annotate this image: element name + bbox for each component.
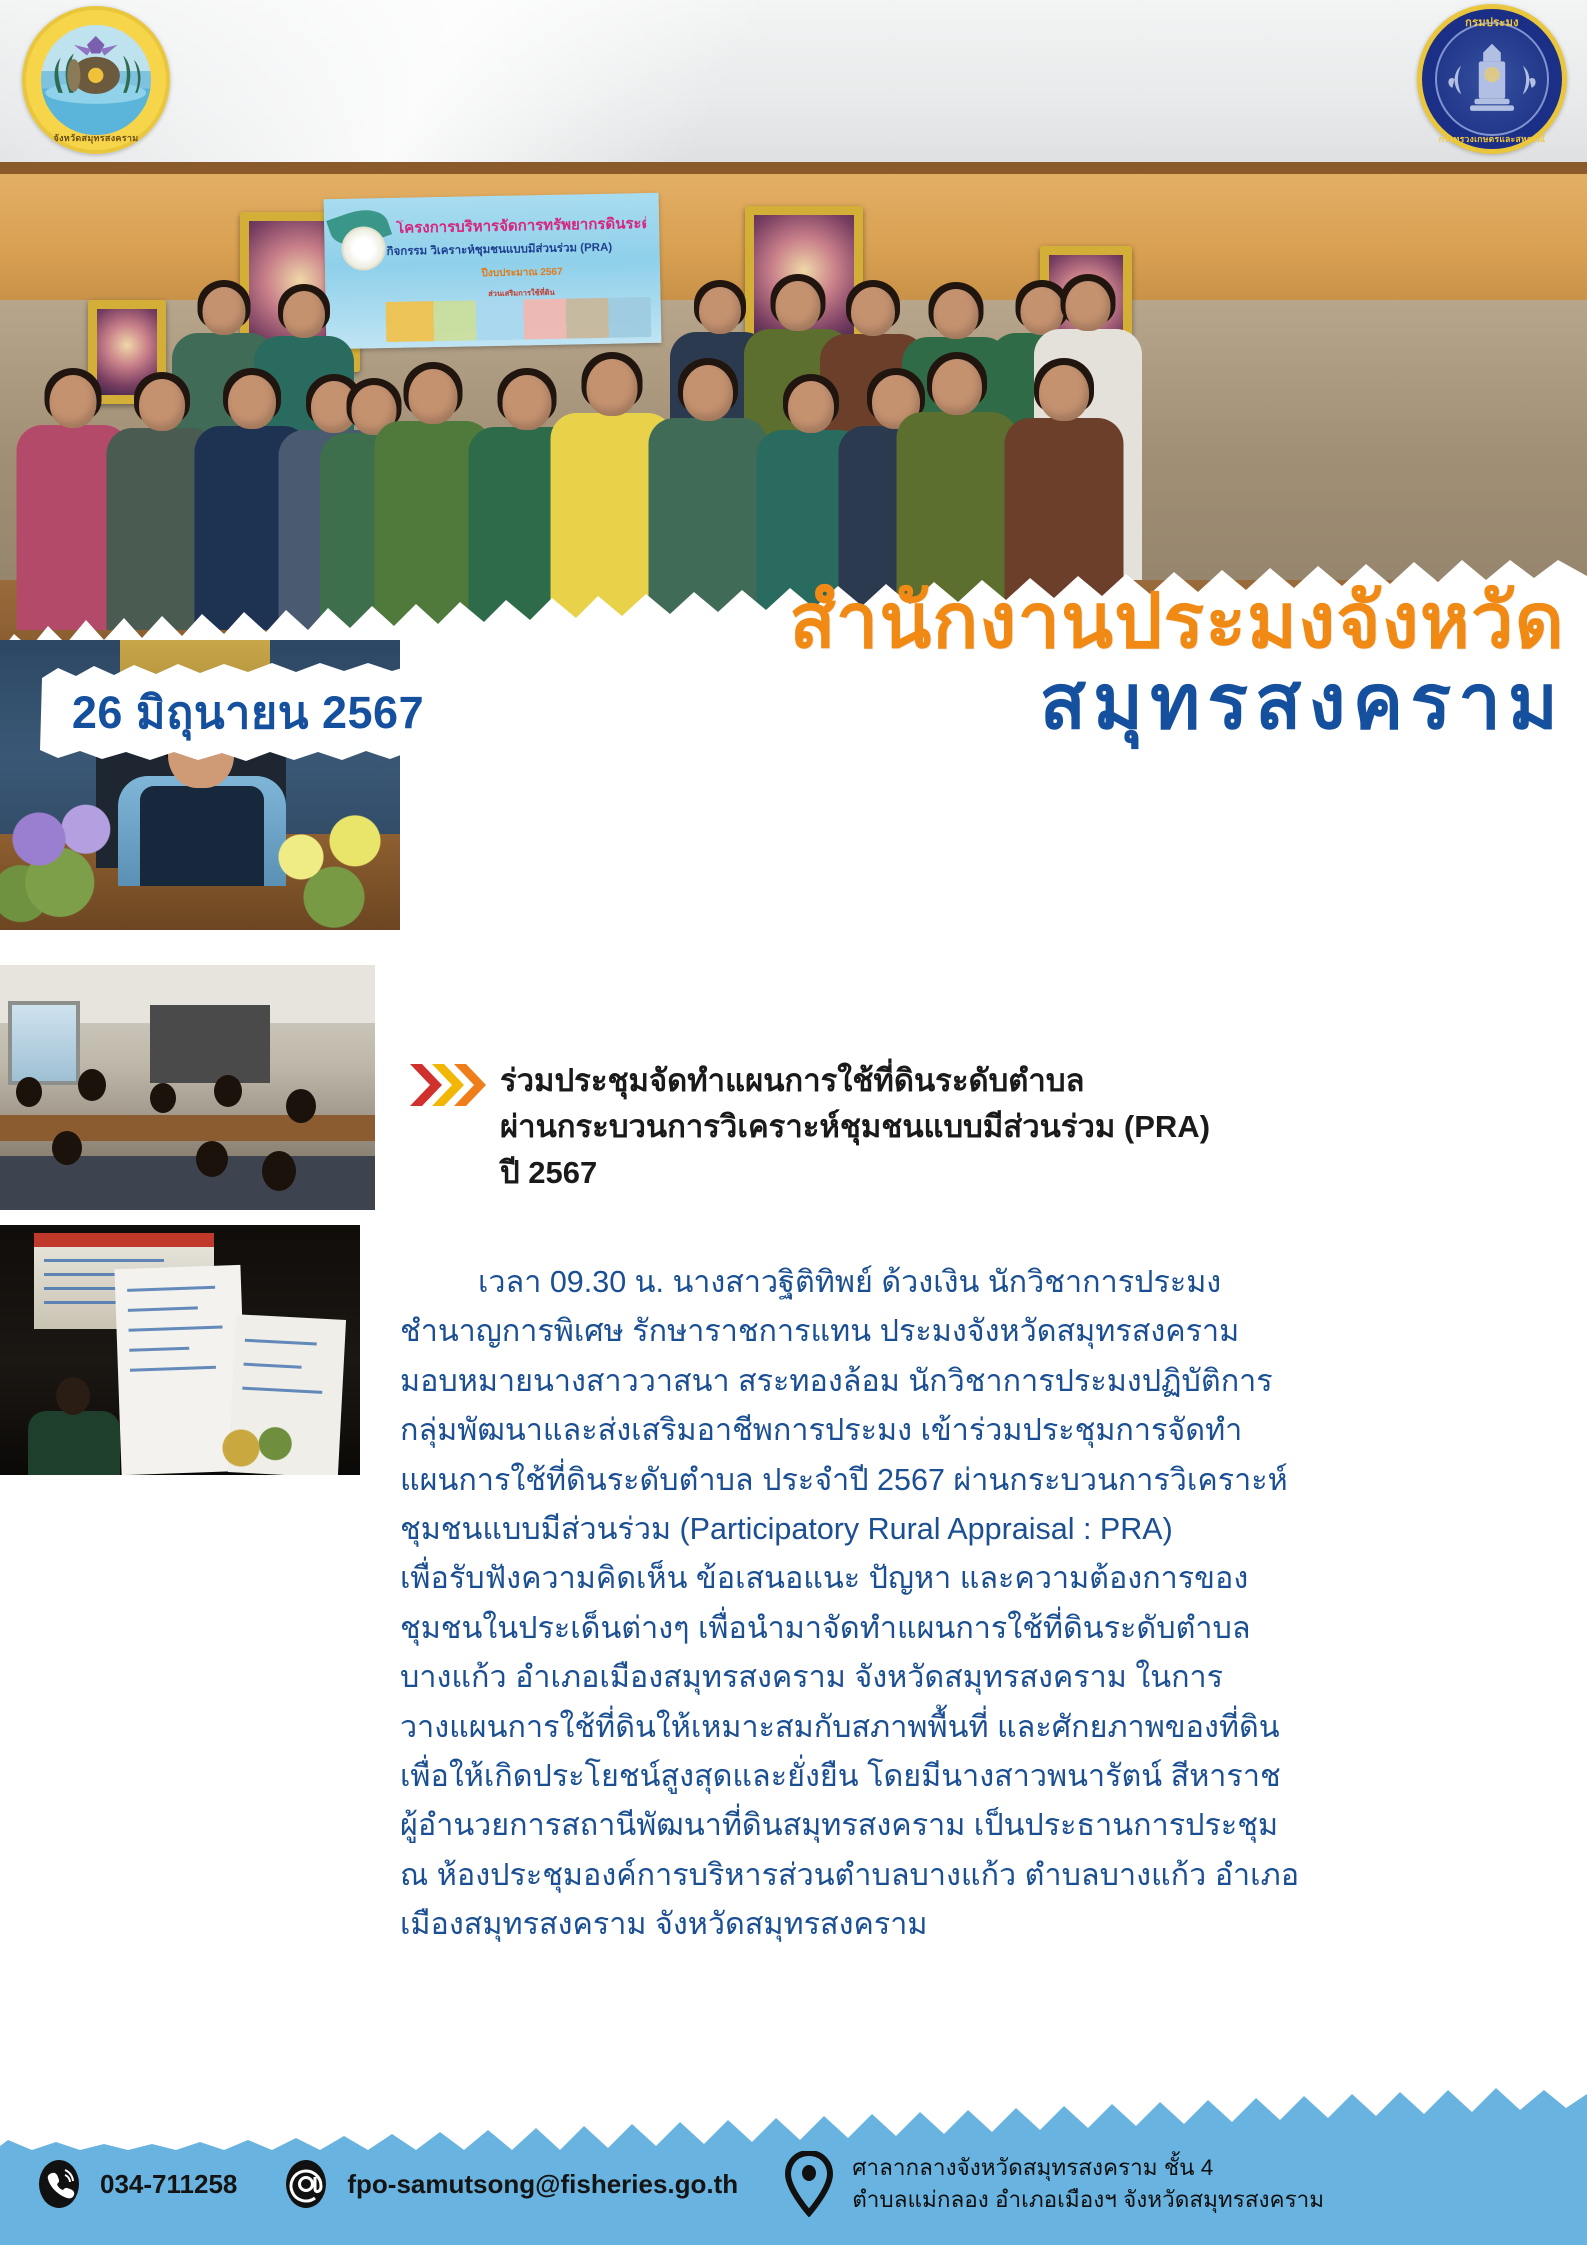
poster-root: โครงการบริหารจัดการทรัพยากรดินระดับตำบล … xyxy=(0,0,1587,2245)
body-text: เวลา 09.30 น. นางสาวฐิติทิพย์ ด้วงเงิน น… xyxy=(400,1258,1572,1950)
subtitle-line-3: ปี 2567 xyxy=(500,1150,1568,1196)
body-line: เวลา 09.30 น. นางสาวฐิติทิพย์ ด้วงเงิน น… xyxy=(400,1258,1572,1307)
title-line-1: สำนักงานประมงจังหวัด xyxy=(400,585,1565,659)
footer-contact-items: 034-711258 fpo-samutsong@fisheries.go.th… xyxy=(0,2123,1587,2245)
banner-line-2: กิจกรรม วิเคราะห์ชุมชนแบบมีส่วนร่วม (PRA… xyxy=(387,241,652,259)
subtitle-line-1: ร่วมประชุมจัดทำแผนการใช้ที่ดินระดับตำบล xyxy=(500,1058,1568,1104)
event-banner: โครงการบริหารจัดการทรัพยากรดินระดับตำบล … xyxy=(324,193,662,349)
body-line: ณ ห้องประชุมองค์การบริหารส่วนตำบลบางแก้ว… xyxy=(400,1851,1572,1900)
phone-icon xyxy=(34,2159,84,2209)
body-line: เพื่อให้เกิดประโยชน์สูงสุดและยั่งยืน โดย… xyxy=(400,1752,1572,1801)
body-line: บางแก้ว อำเภอเมืองสมุทรสงคราม จังหวัดสมุ… xyxy=(400,1653,1572,1702)
banner-line-3: ปีงบประมาณ 2567 xyxy=(437,264,607,282)
department-of-fisheries-seal-icon: กรมประมง กระทรวงเกษตรและสหกรณ์ xyxy=(1417,4,1567,154)
body-line: ชุมชนแบบมีส่วนร่วม (Participatory Rural … xyxy=(400,1505,1572,1554)
body-line: เมืองสมุทรสงคราม จังหวัดสมุทรสงคราม xyxy=(400,1900,1572,1949)
footer-address[interactable]: ศาลากลางจังหวัดสมุทรสงคราม ชั้น 4 ตำบลแม… xyxy=(782,2151,1324,2217)
footer-email-text: fpo-samutsong@fisheries.go.th xyxy=(347,2169,738,2200)
seal-left-label: จังหวัดสมุทรสงคราม xyxy=(22,131,170,145)
body-line: มอบหมายนางสาววาสนา สระทองล้อม นักวิชาการ… xyxy=(400,1357,1572,1406)
subtitle-lines: ร่วมประชุมจัดทำแผนการใช้ที่ดินระดับตำบล … xyxy=(500,1058,1568,1196)
footer-email[interactable]: fpo-samutsong@fisheries.go.th xyxy=(281,2159,738,2209)
footer-address-line-2: ตำบลแม่กลอง อำเภอเมืองฯ จังหวัดสมุทรสงคร… xyxy=(852,2184,1324,2216)
page-title: สำนักงานประมงจังหวัด สมุทรสงคราม xyxy=(400,585,1565,743)
chevron-triple-icon xyxy=(408,1062,486,1108)
map-pin-icon xyxy=(782,2151,836,2217)
seal-right-top-label: กรมประมง xyxy=(1417,13,1567,31)
at-sign-icon xyxy=(281,2159,331,2209)
body-line: ชำนาญการพิเศษ รักษาราชการแทน ประมงจังหวั… xyxy=(400,1307,1572,1356)
subtitle-line-2: ผ่านกระบวนการวิเคราะห์ชุมชนแบบมีส่วนร่วม… xyxy=(500,1104,1568,1150)
date-badge: 26 มิถุนายน 2567 xyxy=(38,662,458,762)
subtitle-block: ร่วมประชุมจัดทำแผนการใช้ที่ดินระดับตำบล … xyxy=(408,1058,1568,1196)
body-line: วางแผนการใช้ที่ดินให้เหมาะสมกับสภาพพื้นท… xyxy=(400,1703,1572,1752)
body-line: ชุมชนในประเด็นต่างๆ เพื่อนำมาจัดทำแผนการ… xyxy=(400,1604,1572,1653)
body-line: กลุ่มพัฒนาและส่งเสริมอาชีพการประมง เข้าร… xyxy=(400,1406,1572,1455)
footer-phone-text: 034-711258 xyxy=(100,2169,237,2200)
footer-address-lines: ศาลากลางจังหวัดสมุทรสงคราม ชั้น 4 ตำบลแม… xyxy=(852,2152,1324,2216)
body-line: ผู้อำนวยการสถานีพัฒนาที่ดินสมุทรสงคราม เ… xyxy=(400,1801,1572,1850)
samut-songkhram-province-seal-icon: จังหวัดสมุทรสงคราม xyxy=(22,6,170,154)
body-line: แผนการใช้ที่ดินระดับตำบล ประจำปี 2567 ผ่… xyxy=(400,1456,1572,1505)
seal-right-bottom-label: กระทรวงเกษตรและสหกรณ์ xyxy=(1417,132,1567,146)
footer-contact-band: 034-711258 fpo-samutsong@fisheries.go.th… xyxy=(0,2070,1587,2245)
banner-seal-icon xyxy=(341,226,386,271)
banner-line-1: โครงการบริหารจัดการทรัพยากรดินระดับตำบล xyxy=(396,216,646,237)
title-line-2: สมุทรสงคราม xyxy=(400,663,1565,743)
photo-meeting-audience xyxy=(0,965,375,1210)
footer-phone[interactable]: 034-711258 xyxy=(34,2159,237,2209)
date-badge-text: 26 มิถุนายน 2567 xyxy=(38,662,458,762)
ceiling xyxy=(0,0,1587,178)
footer-address-line-1: ศาลากลางจังหวัดสมุทรสงคราม ชั้น 4 xyxy=(852,2152,1324,2184)
body-line: เพื่อรับฟังความคิดเห็น ข้อเสนอแนะ ปัญหา … xyxy=(400,1554,1572,1603)
photo-flipchart-session xyxy=(0,1225,360,1475)
